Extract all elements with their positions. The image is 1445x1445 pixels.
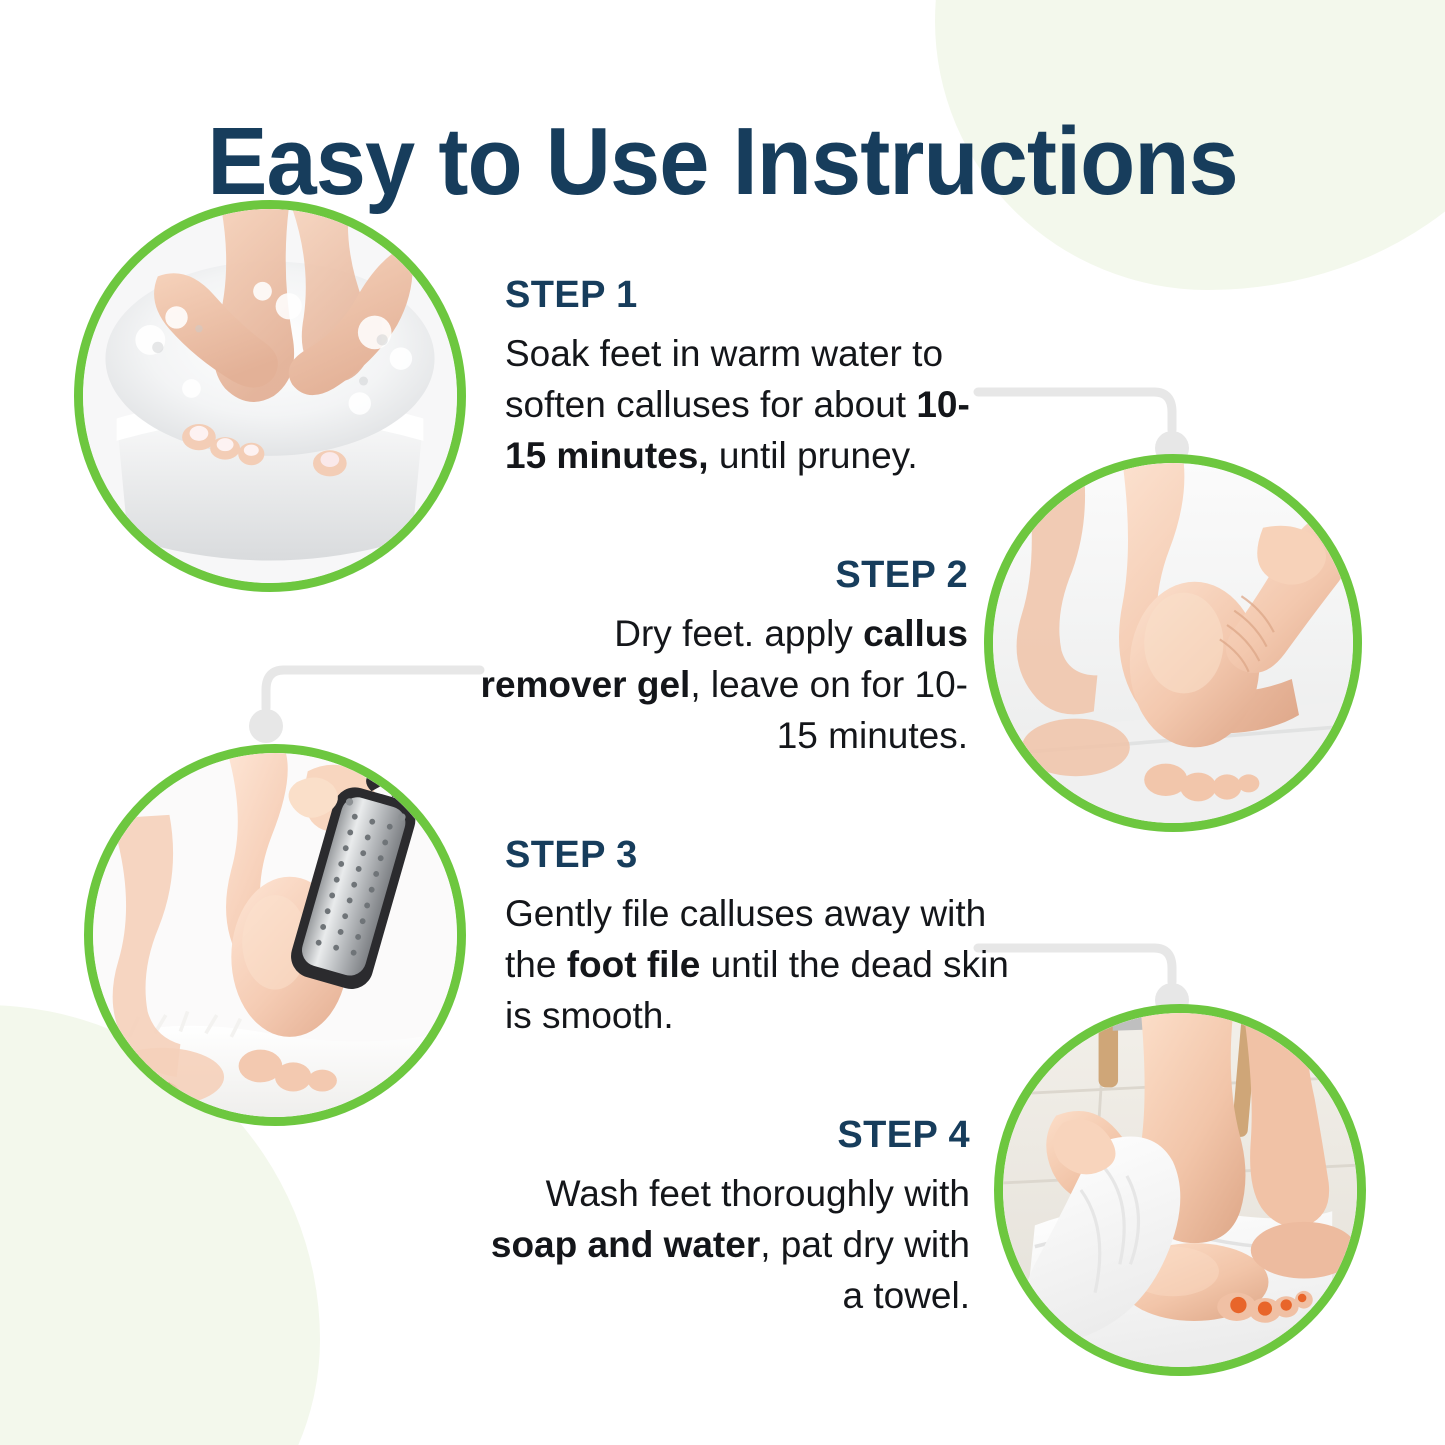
step-4-text: Wash feet thoroughly with soap and water… bbox=[470, 1168, 970, 1321]
step-2-photo bbox=[984, 454, 1362, 832]
step-1-label: STEP 1 bbox=[505, 276, 1005, 314]
step-4-photo bbox=[994, 1004, 1366, 1376]
step-3-photo bbox=[84, 744, 466, 1126]
page-title: Easy to Use Instructions bbox=[43, 112, 1401, 213]
step-2-label: STEP 2 bbox=[468, 556, 968, 594]
step-2-block: STEP 2 Dry feet. apply callus remover ge… bbox=[468, 556, 968, 761]
step-4-block: STEP 4 Wash feet thoroughly with soap an… bbox=[470, 1116, 970, 1321]
step-3-text: Gently file calluses away with the foot … bbox=[505, 888, 1020, 1041]
step-3-label: STEP 3 bbox=[505, 836, 1020, 874]
connector-step2-to-photo3 bbox=[252, 662, 492, 752]
step-1-text: Soak feet in warm water to soften callus… bbox=[505, 328, 1005, 481]
step-2-text: Dry feet. apply callus remover gel, leav… bbox=[468, 608, 968, 761]
step-1-photo bbox=[74, 200, 466, 592]
step-3-block: STEP 3 Gently file calluses away with th… bbox=[505, 836, 1020, 1041]
step-1-block: STEP 1 Soak feet in warm water to soften… bbox=[505, 276, 1005, 481]
step-4-label: STEP 4 bbox=[470, 1116, 970, 1154]
step-4-photo-image bbox=[1003, 1013, 1357, 1367]
step-2-photo-image bbox=[993, 463, 1353, 823]
step-1-photo-image bbox=[83, 209, 457, 583]
step-3-photo-image bbox=[93, 753, 457, 1117]
instructions-infographic: Easy to Use Instructions bbox=[0, 0, 1445, 1445]
